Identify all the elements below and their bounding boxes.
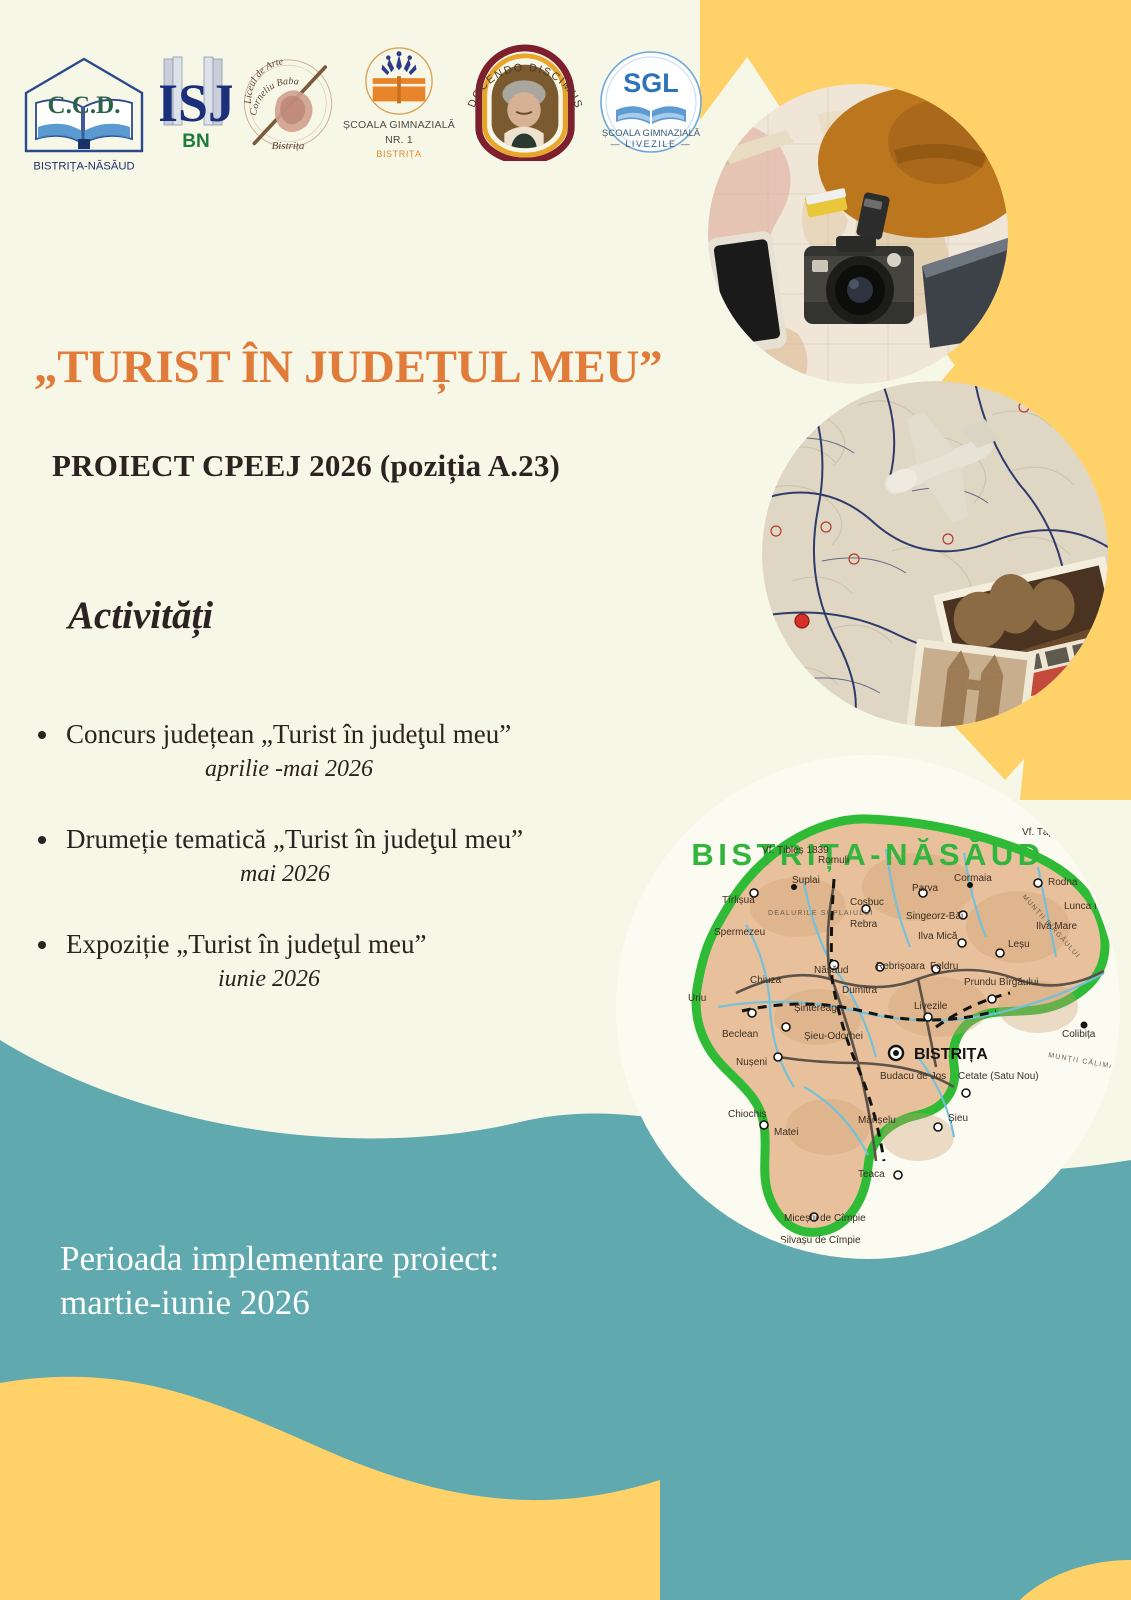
svg-text:Budacu de Jos: Budacu de Jos: [880, 1071, 946, 1082]
svg-text:Romuli: Romuli: [818, 855, 849, 866]
logo-isj-caption: BN: [182, 131, 209, 152]
bistrita-nasaud-county-map: BISTRIȚA-NĂSĂUD BISTRIȚA Romuli Vf. Tăpu…: [618, 757, 1118, 1257]
svg-text:Rebrișoara: Rebrișoara: [876, 961, 925, 972]
project-subtitle: PROIECT CPEEJ 2026 (poziția A.23): [52, 448, 752, 484]
svg-text:Ilva Mică: Ilva Mică: [918, 931, 958, 942]
svg-text:Parva: Parva: [912, 883, 939, 894]
svg-text:Singeorz-Băi: Singeorz-Băi: [906, 911, 963, 922]
svg-text:Cormaia: Cormaia: [954, 873, 992, 884]
book-spine: [78, 139, 90, 149]
svg-text:Lunca Ilvei: Lunca Ilvei: [1064, 901, 1112, 912]
svg-text:Beclean: Beclean: [722, 1029, 758, 1040]
sprout-figures-icon: [381, 51, 416, 75]
svg-text:Matei: Matei: [774, 1127, 798, 1138]
svg-text:Leșu: Leșu: [1008, 939, 1030, 950]
svg-text:Vf. Țibleș 1839: Vf. Țibleș 1839: [762, 845, 829, 856]
activity-date: iunie 2026: [218, 966, 690, 993]
vintage-photo-tower: [905, 639, 1036, 727]
open-book-icon: [373, 76, 426, 103]
list-item: Concurs județean „Turist în judeţul meu”…: [30, 718, 690, 783]
logo-sgl-acronym: SGL: [623, 68, 679, 98]
svg-text:Nușeni: Nușeni: [736, 1057, 767, 1068]
svg-text:Livezile: Livezile: [914, 1001, 948, 1012]
poster-canvas: C.C.D. BISTRIȚA-NĂSĂUD ISJ BN: [0, 0, 1131, 1600]
logo-sg1-line1: ȘCOALA GIMNAZIALĂ: [343, 119, 455, 132]
airplane-map-art: [762, 381, 1108, 727]
activities-list: Concurs județean „Turist în judeţul meu”…: [30, 718, 690, 1033]
svg-text:Mărișelu: Mărișelu: [858, 1115, 896, 1126]
logo-arte-caption: Bistrița: [272, 139, 305, 151]
county-map-title: BISTRIȚA-NĂSĂUD: [691, 837, 1044, 872]
county-map-art: BISTRIȚA-NĂSĂUD BISTRIȚA Romuli Vf. Tăpu…: [618, 757, 1118, 1257]
svg-text:Uriu: Uriu: [688, 993, 706, 1004]
period-line-2: martie-iunie 2026: [60, 1281, 700, 1325]
svg-text:Rodna: Rodna: [1048, 877, 1078, 888]
list-item: Drumeție tematică „Turist în judeţul meu…: [30, 823, 690, 888]
svg-text:Șieu-Odorhei: Șieu-Odorhei: [804, 1031, 863, 1042]
logo-sg1-line2: NR. 1: [385, 134, 413, 147]
svg-text:Colibița: Colibița: [1062, 1029, 1096, 1040]
svg-text:Șieu: Șieu: [948, 1113, 968, 1124]
partner-logos-bar: C.C.D. BISTRIȚA-NĂSĂUD ISJ BN: [14, 42, 754, 162]
logo-scoala-gimnaziala-nr1: ȘCOALA GIMNAZIALĂ NR. 1 BISTRIȚA: [344, 45, 454, 160]
logo-isj-bn: ISJ BN: [160, 47, 232, 157]
svg-text:DEALURILE SUPLAIULUI: DEALURILE SUPLAIULUI: [768, 910, 874, 917]
svg-text:Cetate (Satu Nou): Cetate (Satu Nou): [958, 1071, 1039, 1082]
svg-text:Miceștii de Cîmpie: Miceștii de Cîmpie: [784, 1213, 866, 1224]
activity-date: aprilie -mai 2026: [205, 756, 690, 783]
svg-text:Suplai: Suplai: [792, 875, 820, 886]
logo-liceul-de-arte-corneliu-baba: Liceul de Arte Corneliu Baba Bistrița: [238, 40, 338, 165]
svg-text:Șintereag: Șintereag: [794, 1003, 837, 1014]
svg-text:Vf. Tăpu 2024: Vf. Tăpu 2024: [1022, 827, 1085, 838]
svg-text:Chiochiș: Chiochiș: [728, 1109, 766, 1120]
county-capital-label: BISTRIȚA: [914, 1046, 988, 1063]
implementation-period: Perioada implementare proiect: martie-iu…: [60, 1237, 700, 1325]
activity-label: Expoziție „Turist în judeţul meu”: [30, 928, 690, 961]
svg-text:Prundu Bîrgăului: Prundu Bîrgăului: [964, 977, 1039, 988]
svg-text:Teaca: Teaca: [858, 1169, 885, 1180]
svg-text:Cosbuc: Cosbuc: [850, 897, 884, 908]
activities-heading: Activități: [68, 593, 213, 638]
svg-text:Chiuza: Chiuza: [750, 975, 782, 986]
vintage-camera-icon: [804, 236, 914, 324]
activity-label: Drumeție tematică „Turist în judeţul meu…: [30, 823, 690, 856]
logo-docendo-discimus: DOCENDO DISCIMUS: [460, 43, 590, 161]
svg-text:Rebra: Rebra: [850, 919, 878, 930]
svg-text:Silvașu de Cîmpie: Silvașu de Cîmpie: [780, 1235, 861, 1246]
activity-label: Concurs județean „Turist în judeţul meu”: [30, 718, 690, 751]
airplane-map-photo: [762, 381, 1108, 727]
svg-text:Spermezeu: Spermezeu: [714, 927, 765, 938]
svg-text:Feldru: Feldru: [930, 961, 958, 972]
logo-ccd-acronym: C.C.D.: [48, 92, 121, 119]
svg-text:Dumitra: Dumitra: [842, 985, 877, 996]
svg-text:Tîrlișua: Tîrlișua: [722, 895, 755, 906]
logo-sg1-city: BISTRIȚA: [376, 149, 421, 159]
logo-sgl-caption: — LIVEZILE —: [611, 139, 692, 149]
logo-ccd-caption: BISTRIȚA-NĂSĂUD: [33, 160, 134, 173]
page-title: „TURIST ÎN JUDEȚUL MEU”: [34, 343, 774, 392]
activity-date: mai 2026: [240, 861, 690, 888]
svg-text:Năsăud: Năsăud: [814, 965, 848, 976]
period-line-1: Perioada implementare proiect:: [60, 1237, 700, 1281]
logo-sgl-livezile: SGL ȘCOALA GIMNAZIALĂ — LIVEZILE —: [596, 48, 706, 156]
logo-sgl-line1: ȘCOALA GIMNAZIALĂ: [602, 128, 701, 139]
logo-isj-acronym: ISJ: [160, 73, 232, 133]
logo-ccd-bistrita-nasaud: C.C.D. BISTRIȚA-NĂSĂUD: [14, 47, 154, 157]
red-map-pin-icon: [795, 614, 809, 628]
list-item: Expoziție „Turist în judeţul meu” iunie …: [30, 928, 690, 993]
